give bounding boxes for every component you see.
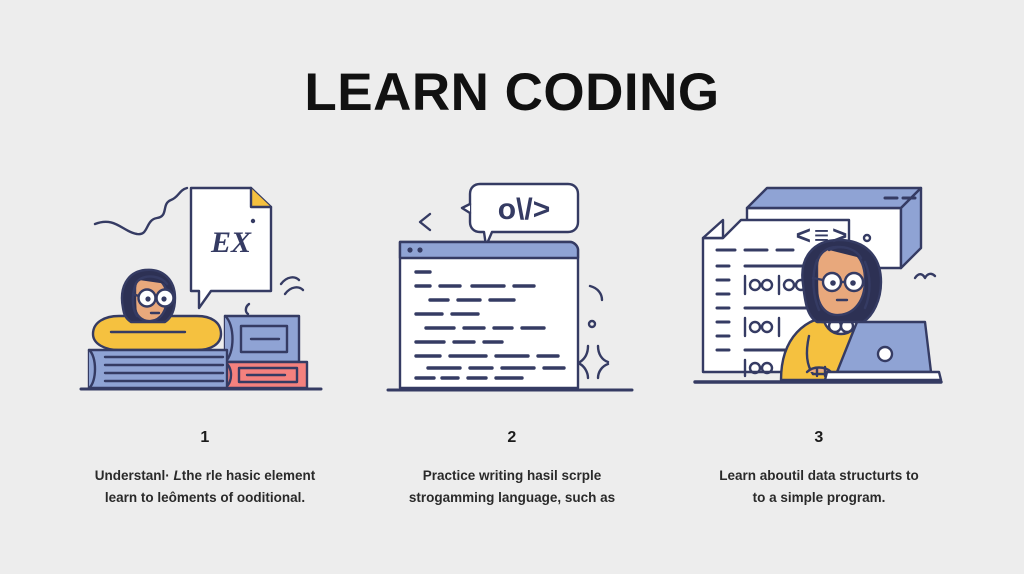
angle-doodle bbox=[420, 214, 430, 230]
step-number-3: 3 bbox=[814, 429, 823, 447]
squiggle-doodle bbox=[95, 188, 187, 234]
caption-line-2: strogamming language, such as bbox=[387, 487, 637, 509]
caption-line-1: Practice writing hasil scrple bbox=[387, 465, 637, 487]
document-label: EX bbox=[210, 226, 252, 259]
server-label: <≡> bbox=[796, 220, 851, 250]
person-with-glasses bbox=[122, 270, 175, 322]
caption-line-1: Learn aboutil data structurts to bbox=[694, 465, 944, 487]
step-column-3: <≡> 3 Learn aboutil data structurts to t… bbox=[674, 176, 964, 510]
step-caption-2: Practice writing hasil scrple strogammin… bbox=[387, 465, 637, 510]
caption-line-1: Understanl· Lthe rle hasic element bbox=[80, 465, 330, 487]
step-column-1: EX 1 Understanl· Lthe rle hasic element … bbox=[60, 176, 350, 510]
book-stack bbox=[81, 316, 321, 389]
dot-doodle bbox=[589, 321, 595, 327]
caption-line1-part-a: Understanl· bbox=[95, 468, 174, 483]
sparkle-doodle bbox=[580, 346, 608, 378]
caption-line-2: to a simple program. bbox=[694, 487, 944, 509]
leaf-doodle bbox=[281, 277, 303, 294]
step-caption-3: Learn aboutil data structurts to to a si… bbox=[694, 465, 944, 510]
step-number-2: 2 bbox=[507, 429, 516, 447]
step-column-2: o\/> 2 Practice writing hasil scrple str… bbox=[367, 176, 657, 510]
illustration-code-editor-window: o\/> bbox=[382, 176, 642, 401]
bubble-code-label: o\/> bbox=[498, 193, 551, 226]
page-title: LEARN CODING bbox=[0, 62, 1024, 123]
steps-row: EX 1 Understanl· Lthe rle hasic element … bbox=[0, 176, 1024, 510]
step-number-1: 1 bbox=[200, 429, 209, 447]
arc-doodle bbox=[590, 286, 602, 300]
step-caption-1: Understanl· Lthe rle hasic element learn… bbox=[80, 465, 330, 510]
caption-line-2: learn to leôments of ooditional. bbox=[80, 487, 330, 509]
comma-doodle bbox=[246, 304, 249, 314]
poster-canvas: LEARN CODING bbox=[0, 0, 1024, 574]
caption-line1-italic: L bbox=[173, 468, 181, 483]
illustration-person-at-laptop-with-server: <≡> bbox=[689, 176, 949, 401]
caption-line1-part-b: the rle hasic element bbox=[182, 468, 316, 483]
bird-doodle bbox=[915, 274, 935, 278]
illustration-person-leaning-on-book-stack: EX bbox=[75, 176, 335, 401]
